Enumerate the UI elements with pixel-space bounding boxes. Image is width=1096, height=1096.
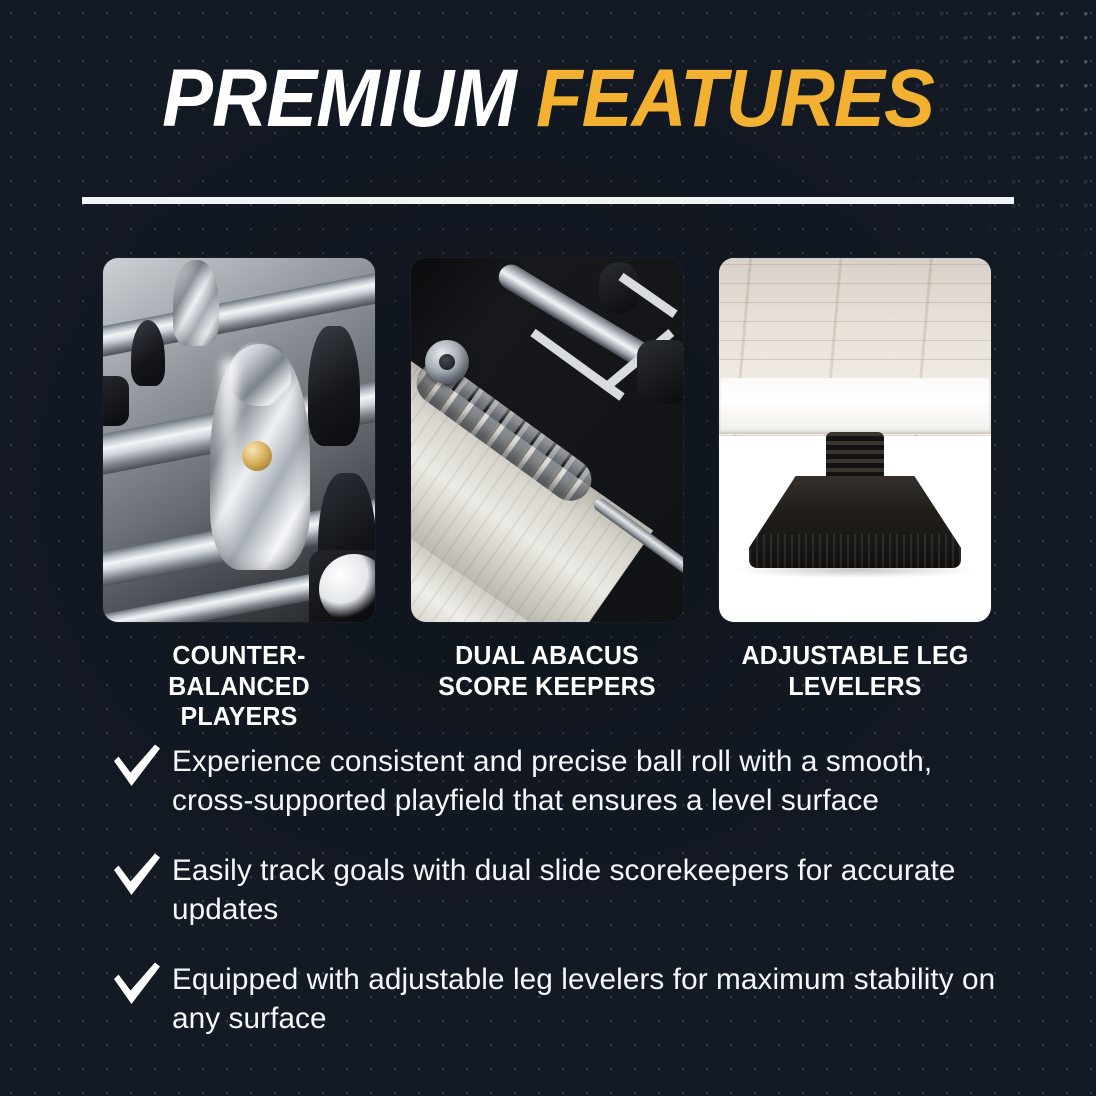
caption-line-2: SCORE KEEPERS bbox=[416, 671, 677, 702]
page-title-word-features: FEATURES bbox=[536, 53, 934, 144]
caption-adjustable-leg-levelers: ADJUSTABLE LEG LEVELERS bbox=[724, 640, 985, 732]
caption-line-1: COUNTER-BALANCED bbox=[108, 640, 369, 701]
caption-line-2: LEVELERS bbox=[724, 671, 985, 702]
title-divider-rule bbox=[82, 197, 1014, 204]
checkmark-icon bbox=[112, 962, 162, 1008]
list-item: Experience consistent and precise ball r… bbox=[112, 742, 1042, 820]
adjustable-leg-levelers-photo bbox=[719, 258, 991, 622]
caption-dual-abacus-score-keepers: DUAL ABACUS SCORE KEEPERS bbox=[416, 640, 677, 732]
page-title-text: PREMIUM FEATURES bbox=[38, 58, 1057, 140]
feature-bullet-list: Experience consistent and precise ball r… bbox=[112, 742, 1042, 1069]
list-item-text: Experience consistent and precise ball r… bbox=[172, 742, 1009, 820]
counter-balanced-players-photo bbox=[103, 258, 375, 622]
checkmark-icon bbox=[112, 744, 162, 790]
caption-line-1: DUAL ABACUS bbox=[416, 640, 677, 671]
feature-card-dual-abacus-score-keepers[interactable] bbox=[411, 258, 683, 622]
page-title-space bbox=[516, 53, 536, 144]
list-item-text: Easily track goals with dual slide score… bbox=[172, 851, 1009, 929]
feature-card-adjustable-leg-levelers[interactable] bbox=[719, 258, 991, 622]
feature-card-counter-balanced-players[interactable] bbox=[103, 258, 375, 622]
list-item: Easily track goals with dual slide score… bbox=[112, 851, 1042, 929]
dual-abacus-score-keepers-photo bbox=[411, 258, 683, 622]
caption-line-2: PLAYERS bbox=[108, 701, 369, 732]
premium-features-panel: PREMIUM FEATURES bbox=[0, 0, 1096, 1096]
caption-line-1: ADJUSTABLE LEG bbox=[724, 640, 985, 671]
feature-image-row bbox=[103, 258, 1001, 622]
list-item-text: Equipped with adjustable leg levelers fo… bbox=[172, 960, 1009, 1038]
list-item: Equipped with adjustable leg levelers fo… bbox=[112, 960, 1042, 1038]
feature-caption-row: COUNTER-BALANCED PLAYERS DUAL ABACUS SCO… bbox=[103, 640, 1001, 732]
caption-counter-balanced-players: COUNTER-BALANCED PLAYERS bbox=[108, 640, 369, 732]
page-title-word-premium: PREMIUM bbox=[162, 53, 516, 144]
page-title: PREMIUM FEATURES bbox=[0, 58, 1096, 140]
checkmark-icon bbox=[112, 853, 162, 899]
